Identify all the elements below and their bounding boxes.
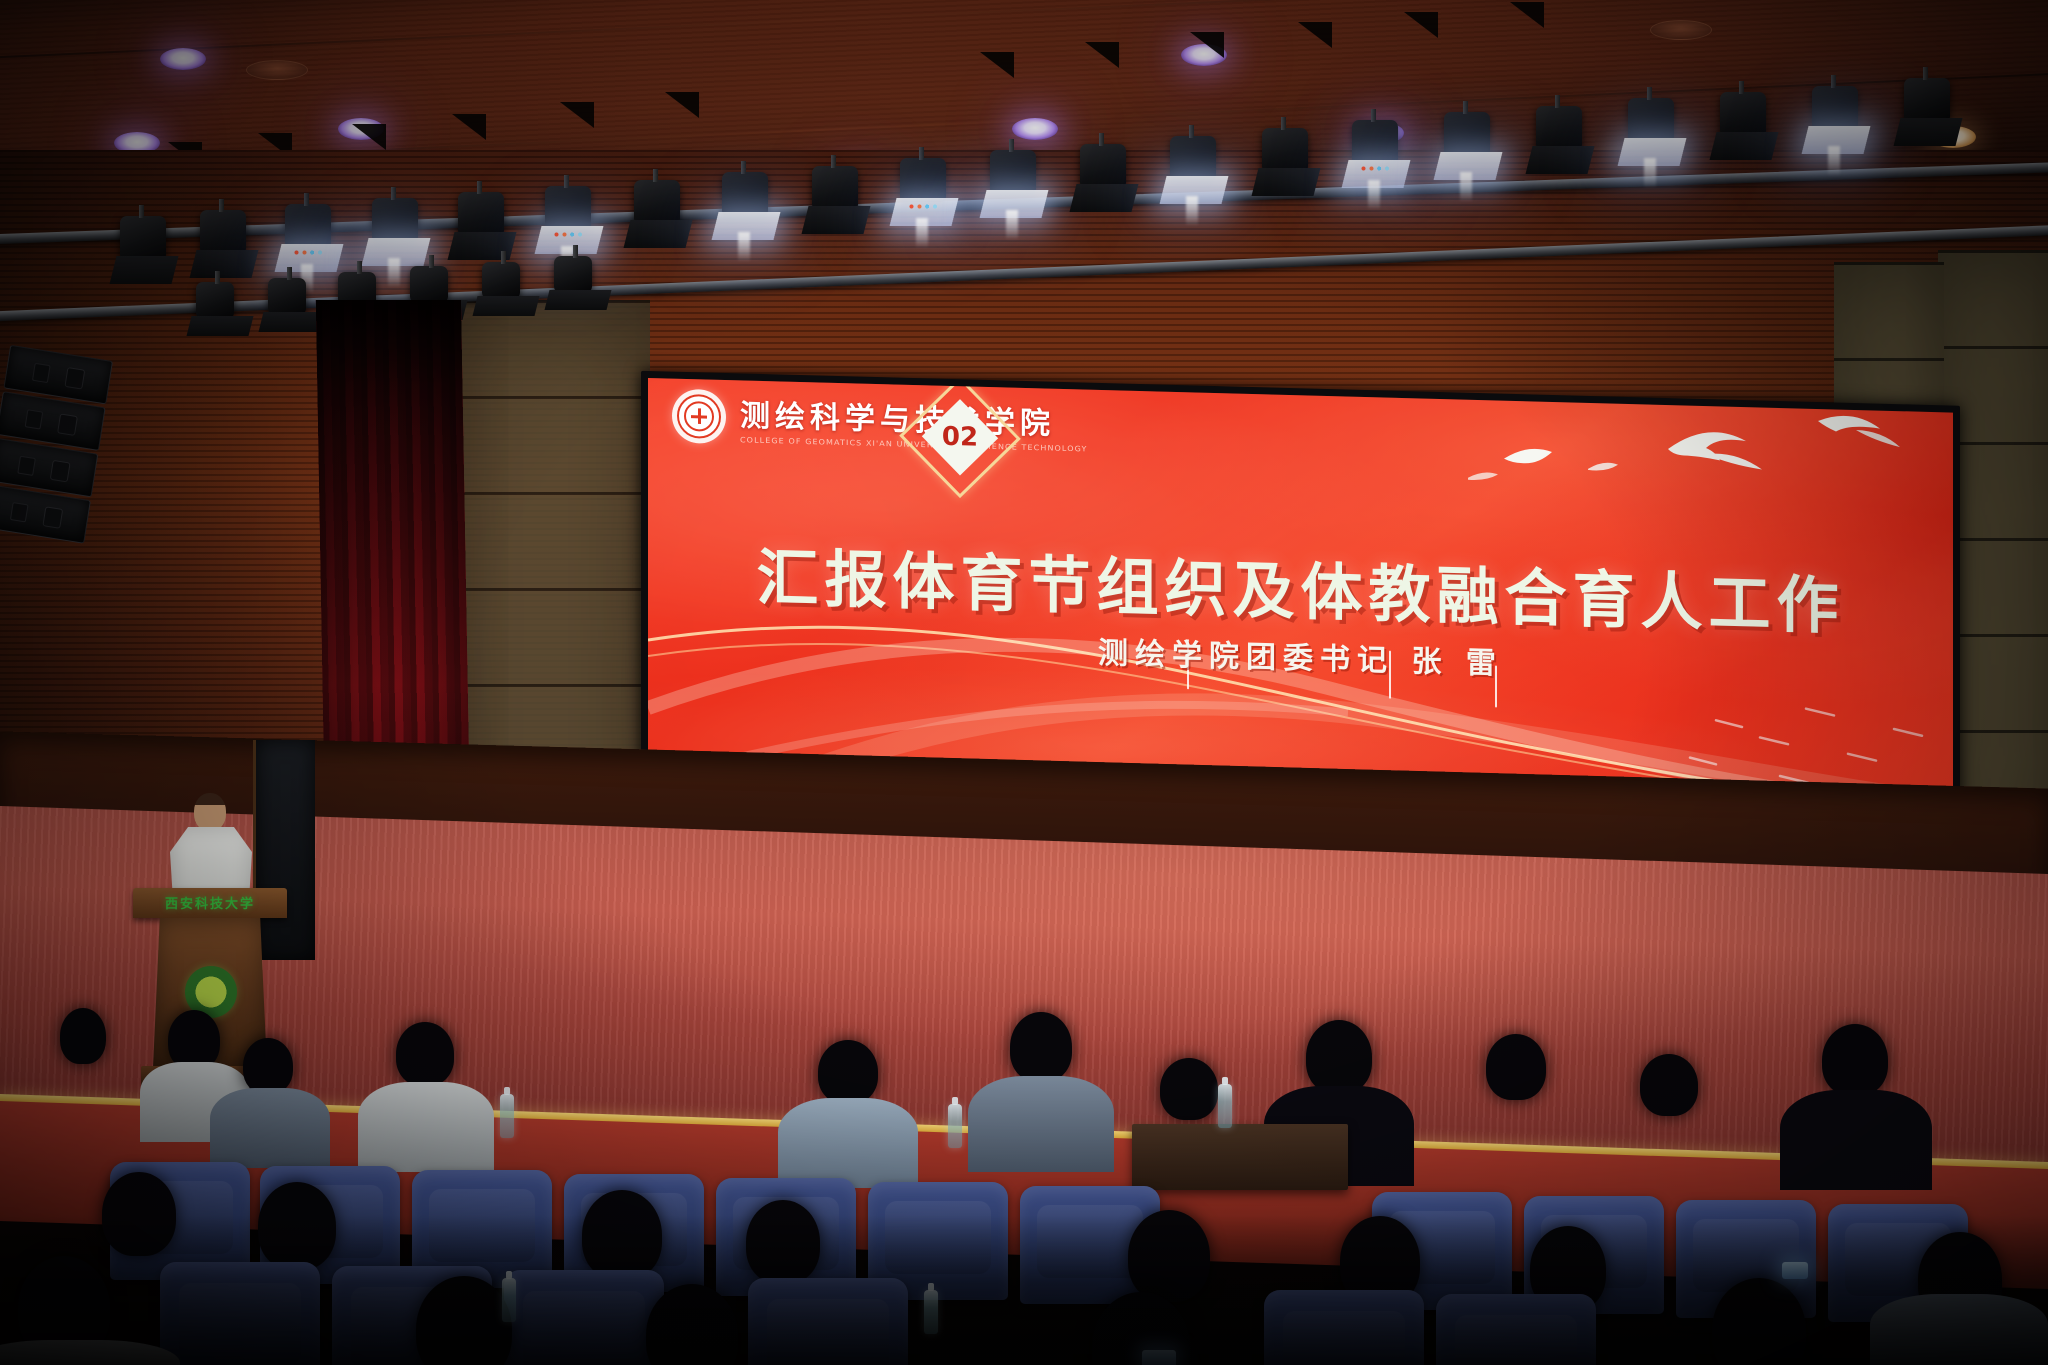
stage-spotlight-icon — [1080, 144, 1126, 188]
led-presentation-screen[interactable]: 测绘科学与技术学院 COLLEGE OF GEOMATICS XI'AN UNI… — [648, 378, 1953, 818]
phone-screen-glow — [1782, 1262, 1808, 1279]
stage-spotlight-icon — [812, 166, 858, 210]
stage-spotlight-icon — [545, 186, 591, 230]
stage-spotlight-icon — [482, 262, 520, 298]
audience-head — [1822, 1024, 1888, 1096]
stage-spotlight-icon — [1444, 112, 1490, 156]
front-desk — [1132, 1124, 1348, 1190]
university-seal-icon — [672, 389, 726, 444]
audience-body — [1870, 1294, 2048, 1365]
audience-head — [1640, 1054, 1698, 1116]
recessed-downlight-icon — [1012, 118, 1058, 140]
audience-head — [60, 1008, 106, 1064]
stage-spotlight-icon — [1812, 86, 1858, 130]
audience-body — [1780, 1090, 1932, 1190]
audience-head — [416, 1276, 512, 1365]
water-bottle-icon — [1218, 1084, 1232, 1128]
acoustic-wedge-icon — [980, 52, 1014, 78]
stage-spotlight-icon — [200, 210, 246, 254]
audience-head — [582, 1190, 662, 1280]
acoustic-wedge-icon — [1298, 22, 1332, 48]
audience-head — [1306, 1020, 1372, 1094]
audience-head — [243, 1038, 293, 1094]
acoustic-wedge-icon — [560, 102, 594, 128]
acoustic-wedge-icon — [352, 124, 386, 150]
acoustic-wedge-icon — [1190, 32, 1224, 58]
stage-spotlight-icon — [1628, 98, 1674, 142]
acoustic-wedge-icon — [1085, 42, 1119, 68]
audience-body — [778, 1098, 918, 1188]
acoustic-wedge-icon — [665, 92, 699, 118]
presenter — [168, 793, 254, 903]
auditorium-seat[interactable] — [748, 1278, 908, 1365]
water-bottle-icon — [948, 1104, 962, 1148]
auditorium-scene: 测绘科学与技术学院 COLLEGE OF GEOMATICS XI'AN UNI… — [0, 0, 2048, 1365]
stage-spotlight-icon — [1170, 136, 1216, 180]
audience-head — [168, 1010, 220, 1070]
stage-spotlight-icon — [458, 192, 504, 236]
ceiling-speaker-icon — [246, 60, 308, 80]
audience-head — [1010, 1012, 1072, 1082]
stage-spotlight-icon — [900, 158, 946, 202]
acoustic-wedge-icon — [1404, 12, 1438, 38]
audience-body — [358, 1082, 494, 1172]
auditorium-seat[interactable] — [1264, 1290, 1424, 1365]
acoustic-wedge-icon — [1510, 2, 1544, 28]
stage-spotlight-icon — [722, 172, 768, 216]
audience-head — [1160, 1058, 1218, 1120]
screen-surface: 测绘科学与技术学院 COLLEGE OF GEOMATICS XI'AN UNI… — [648, 378, 1953, 818]
stage-spotlight-icon — [268, 278, 306, 314]
stage-spotlight-icon — [372, 198, 418, 242]
audience-head — [1128, 1210, 1210, 1302]
stage-spotlight-icon — [990, 150, 1036, 194]
audience-head — [102, 1172, 176, 1256]
college-logo: 测绘科学与技术学院 COLLEGE OF GEOMATICS XI'AN UNI… — [672, 389, 1088, 454]
audience-body — [0, 1340, 180, 1365]
section-number-badge: 02 — [917, 393, 1003, 481]
stage-spotlight-icon — [1352, 120, 1398, 164]
auditorium-seating — [0, 1020, 2048, 1365]
stage-spotlight-icon — [634, 180, 680, 224]
phone-screen-glow — [1142, 1350, 1176, 1365]
auditorium-seat[interactable] — [1436, 1294, 1596, 1365]
stage-spotlight-icon — [120, 216, 166, 260]
stage-spotlight-icon — [410, 266, 448, 302]
audience-head — [258, 1182, 336, 1270]
water-bottle-icon — [924, 1290, 938, 1334]
stage-spotlight-icon — [196, 282, 234, 318]
stage-spotlight-icon — [1720, 92, 1766, 136]
audience-head — [746, 1200, 820, 1284]
audience-body — [210, 1088, 330, 1168]
stage-spotlight-icon — [1904, 78, 1950, 122]
stage-spotlight-icon — [1262, 128, 1308, 172]
water-bottle-icon — [500, 1094, 514, 1138]
flying-doves-icon — [1438, 399, 1908, 521]
auditorium-seat[interactable] — [504, 1270, 664, 1365]
audience-body — [968, 1076, 1114, 1172]
stage-spotlight-icon — [285, 204, 331, 248]
stage-spotlight-icon — [554, 256, 592, 292]
podium-inscription: 西安科技大学 — [145, 893, 275, 912]
audience-head — [818, 1040, 878, 1104]
ceiling-speaker-icon — [1650, 20, 1712, 40]
stage-spotlight-icon — [1536, 106, 1582, 150]
audience-head — [1486, 1034, 1546, 1100]
water-bottle-icon — [502, 1278, 516, 1322]
presenter-head — [194, 793, 226, 831]
acoustic-wedge-icon — [452, 114, 486, 140]
audience-head — [396, 1022, 454, 1086]
recessed-downlight-icon — [160, 48, 206, 70]
section-number: 02 — [917, 393, 1003, 481]
auditorium-seat[interactable] — [160, 1262, 320, 1365]
